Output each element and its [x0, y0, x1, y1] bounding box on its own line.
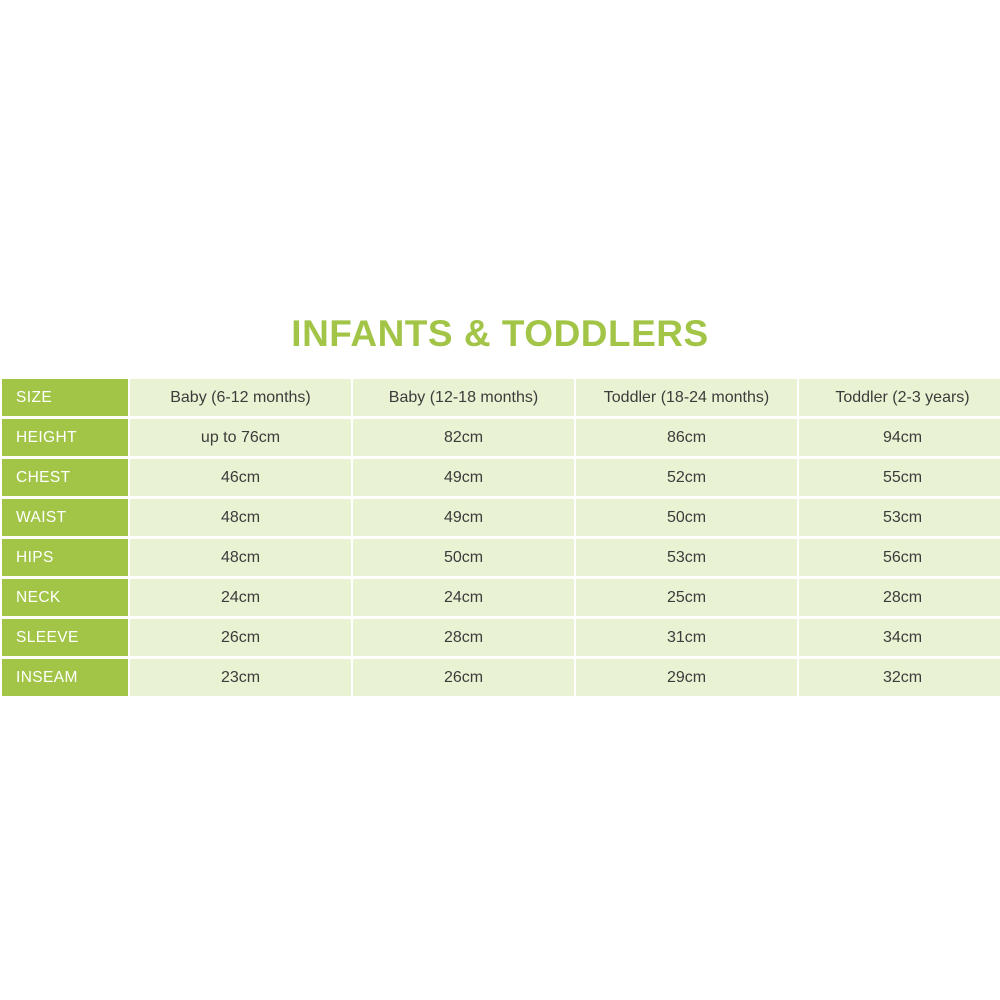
table-cell: 24cm: [353, 579, 574, 616]
row-label-hips: HIPS: [2, 539, 128, 576]
table-cell: 48cm: [130, 539, 351, 576]
table-cell: 28cm: [353, 619, 574, 656]
row-label-inseam: INSEAM: [2, 659, 128, 696]
table-cell: 94cm: [799, 419, 1000, 456]
row-label-waist: WAIST: [2, 499, 128, 536]
row-label-height: HEIGHT: [2, 419, 128, 456]
table-cell: 86cm: [576, 419, 797, 456]
table-row: CHEST 46cm 49cm 52cm 55cm: [2, 459, 1000, 496]
table-row: INSEAM 23cm 26cm 29cm 32cm: [2, 659, 1000, 696]
row-label-chest: CHEST: [2, 459, 128, 496]
table-cell: 32cm: [799, 659, 1000, 696]
table-cell: 53cm: [576, 539, 797, 576]
table-row: WAIST 48cm 49cm 50cm 53cm: [2, 499, 1000, 536]
table-header-row: SIZE Baby (6-12 months) Baby (12-18 mont…: [2, 379, 1000, 416]
table-cell: 48cm: [130, 499, 351, 536]
table-cell: 23cm: [130, 659, 351, 696]
table-cell: 56cm: [799, 539, 1000, 576]
column-header-baby-6-12: Baby (6-12 months): [130, 379, 351, 416]
table-cell: 82cm: [353, 419, 574, 456]
table-cell: 55cm: [799, 459, 1000, 496]
row-label-neck: NECK: [2, 579, 128, 616]
table-row: HIPS 48cm 50cm 53cm 56cm: [2, 539, 1000, 576]
table-cell: up to 76cm: [130, 419, 351, 456]
page-title: INFANTS & TODDLERS: [0, 312, 1000, 356]
table-cell: 49cm: [353, 459, 574, 496]
table-cell: 52cm: [576, 459, 797, 496]
column-header-toddler-2-3: Toddler (2-3 years): [799, 379, 1000, 416]
table-cell: 28cm: [799, 579, 1000, 616]
table-body: HEIGHT up to 76cm 82cm 86cm 94cm CHEST 4…: [2, 419, 1000, 696]
table-cell: 25cm: [576, 579, 797, 616]
row-label-sleeve: SLEEVE: [2, 619, 128, 656]
table-cell: 53cm: [799, 499, 1000, 536]
table-cell: 46cm: [130, 459, 351, 496]
column-header-size: SIZE: [2, 379, 128, 416]
table-cell: 29cm: [576, 659, 797, 696]
column-header-toddler-18-24: Toddler (18-24 months): [576, 379, 797, 416]
size-chart-table: SIZE Baby (6-12 months) Baby (12-18 mont…: [0, 376, 1000, 699]
table-row: SLEEVE 26cm 28cm 31cm 34cm: [2, 619, 1000, 656]
table-cell: 24cm: [130, 579, 351, 616]
table-row: NECK 24cm 24cm 25cm 28cm: [2, 579, 1000, 616]
table-cell: 26cm: [130, 619, 351, 656]
table-row: HEIGHT up to 76cm 82cm 86cm 94cm: [2, 419, 1000, 456]
table-cell: 50cm: [576, 499, 797, 536]
table-cell: 50cm: [353, 539, 574, 576]
table-header: SIZE Baby (6-12 months) Baby (12-18 mont…: [2, 379, 1000, 416]
table-cell: 34cm: [799, 619, 1000, 656]
size-chart-page: INFANTS & TODDLERS SIZE Baby (6-12 month…: [0, 0, 1000, 1000]
table-cell: 49cm: [353, 499, 574, 536]
table-cell: 26cm: [353, 659, 574, 696]
table-cell: 31cm: [576, 619, 797, 656]
column-header-baby-12-18: Baby (12-18 months): [353, 379, 574, 416]
